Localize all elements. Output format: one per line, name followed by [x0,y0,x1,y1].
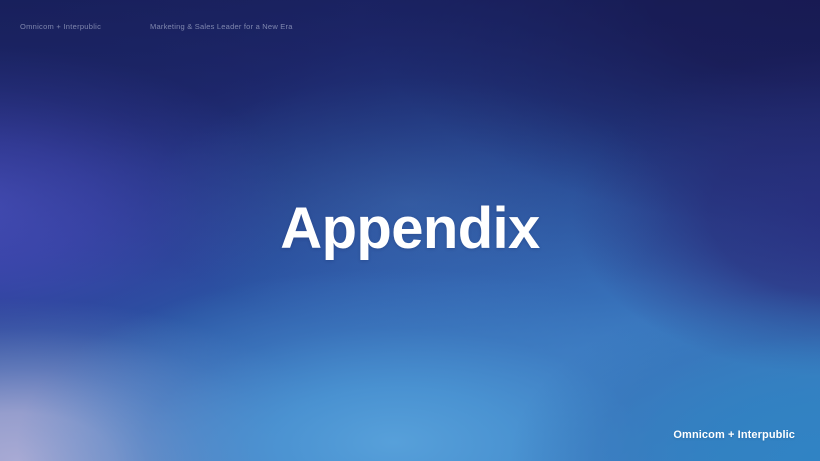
slide-header: Omnicom + Interpublic Marketing & Sales … [0,0,820,54]
header-brand-label: Omnicom + Interpublic [20,22,101,31]
footer-logo: Omnicom + Interpublic [673,429,795,442]
slide-title-container: Appendix [0,196,820,262]
presentation-slide: Omnicom + Interpublic Marketing & Sales … [0,0,820,461]
page-title: Appendix [280,196,539,262]
header-subject-label: Marketing & Sales Leader for a New Era [150,22,293,31]
